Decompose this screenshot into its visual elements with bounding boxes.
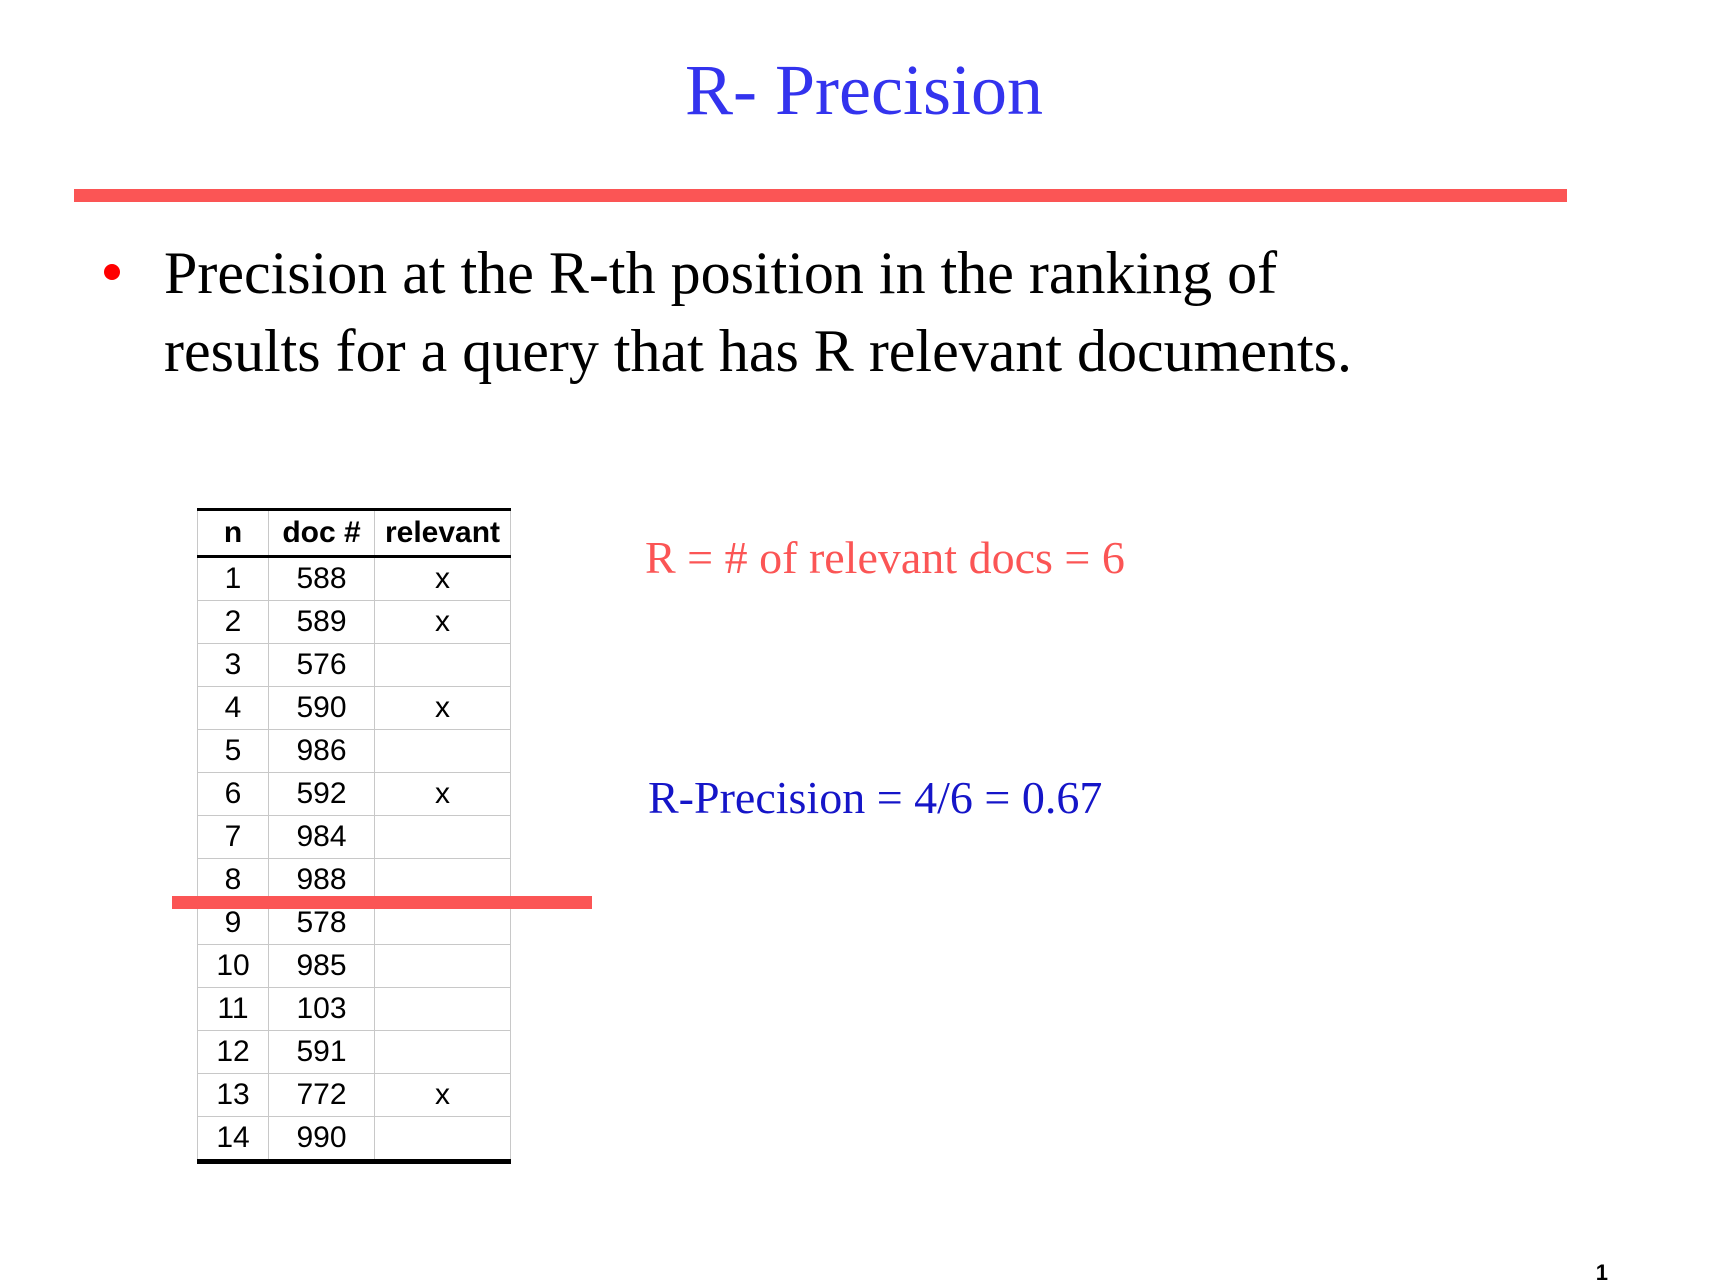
cell-relevant-mark [375,1031,511,1074]
r-cutoff-rule [172,896,592,909]
column-header-relevant: relevant [375,510,511,557]
cell-rank: 11 [198,988,269,1031]
cell-rank: 14 [198,1117,269,1162]
slide-page-number: 1 [1596,1260,1608,1286]
bullet-list-item: Precision at the R-th position in the ra… [104,234,1604,390]
cell-relevant-mark [375,816,511,859]
cell-doc-number: 772 [269,1074,375,1117]
cell-rank: 6 [198,773,269,816]
table-row: 6592x [198,773,511,816]
table-row: 13772x [198,1074,511,1117]
cell-doc-number: 985 [269,945,375,988]
cell-doc-number: 589 [269,601,375,644]
table-header-row: n doc # relevant [198,510,511,557]
table-row: 5986 [198,730,511,773]
table-row: 2589x [198,601,511,644]
column-header-doc-num: doc # [269,510,375,557]
ranking-results-table: n doc # relevant 1588x2589x35764590x5986… [197,508,511,1164]
table-row: 4590x [198,687,511,730]
cell-rank: 5 [198,730,269,773]
cell-relevant-mark: x [375,601,511,644]
table-body: 1588x2589x35764590x59866592x798489889578… [198,557,511,1162]
cell-doc-number: 984 [269,816,375,859]
results-table-container: n doc # relevant 1588x2589x35764590x5986… [197,508,511,1164]
cell-doc-number: 592 [269,773,375,816]
cell-rank: 12 [198,1031,269,1074]
cell-doc-number: 990 [269,1117,375,1162]
table-row: 1588x [198,557,511,601]
r-definition-annotation: R = # of relevant docs = 6 [645,530,1125,586]
title-divider-rule [74,189,1567,202]
table-row: 14990 [198,1117,511,1162]
cell-relevant-mark: x [375,557,511,601]
cell-rank: 3 [198,644,269,687]
cell-relevant-mark [375,945,511,988]
cell-relevant-mark: x [375,773,511,816]
cell-doc-number: 588 [269,557,375,601]
bullet-dot-icon [104,264,120,280]
r-precision-result-annotation: R-Precision = 4/6 = 0.67 [648,770,1102,826]
table-row: 7984 [198,816,511,859]
cell-rank: 4 [198,687,269,730]
cell-rank: 2 [198,601,269,644]
cell-rank: 7 [198,816,269,859]
bullet-item-text: Precision at the R-th position in the ra… [164,234,1354,390]
table-row: 12591 [198,1031,511,1074]
table-row: 10985 [198,945,511,988]
cell-relevant-mark [375,1117,511,1162]
table-row: 11103 [198,988,511,1031]
cell-relevant-mark [375,730,511,773]
cell-relevant-mark [375,988,511,1031]
table-row: 3576 [198,644,511,687]
cell-relevant-mark: x [375,687,511,730]
cell-relevant-mark [375,644,511,687]
cell-doc-number: 103 [269,988,375,1031]
cell-relevant-mark: x [375,1074,511,1117]
cell-doc-number: 590 [269,687,375,730]
cell-doc-number: 576 [269,644,375,687]
cell-rank: 1 [198,557,269,601]
cell-rank: 13 [198,1074,269,1117]
page-title: R- Precision [0,48,1728,132]
cell-doc-number: 986 [269,730,375,773]
cell-doc-number: 591 [269,1031,375,1074]
cell-rank: 10 [198,945,269,988]
column-header-n: n [198,510,269,557]
